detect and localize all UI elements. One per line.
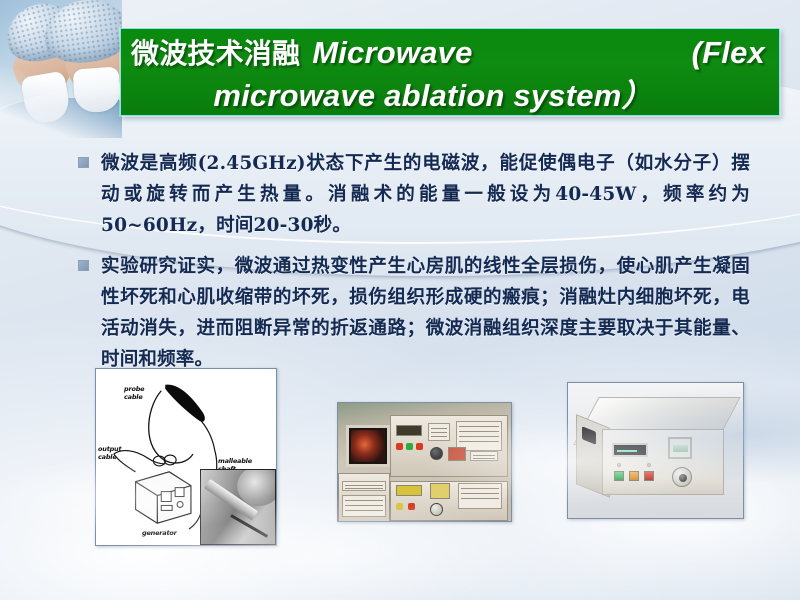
slide-canvas: 微波技术消融 Microwave (Flex microwave ablatio… bbox=[0, 0, 800, 600]
inset-endoscopic-photo bbox=[200, 469, 276, 545]
bullet-text: 微波是高频(2.45GHz)状态下产生的电磁波，能促使偶电子（如水分子）摆动或旋… bbox=[101, 148, 750, 241]
body-content: 微波是高频(2.45GHz)状态下产生的电磁波，能促使偶电子（如水分子）摆动或旋… bbox=[78, 148, 750, 385]
bullet-text: 实验研究证实，微波通过热变性产生心房肌的线性全层损伤，使心肌产生凝固性坏死和心肌… bbox=[101, 251, 750, 375]
surgeon-photo bbox=[0, 0, 122, 138]
title-line-2: microwave ablation system） bbox=[131, 76, 765, 116]
label-probe-cable: probecable bbox=[124, 385, 144, 401]
bullet-square-icon bbox=[78, 157, 89, 168]
title-english: Microwave bbox=[312, 31, 472, 75]
title-line-1: 微波技术消融 Microwave (Flex bbox=[131, 31, 765, 76]
bullet-square-icon bbox=[78, 260, 89, 271]
title-paren-open: (Flex bbox=[692, 31, 765, 75]
figure-generator-photo bbox=[567, 382, 744, 519]
title-banner: 微波技术消融 Microwave (Flex microwave ablatio… bbox=[120, 28, 780, 116]
bullet-item: 微波是高频(2.45GHz)状态下产生的电磁波，能促使偶电子（如水分子）摆动或旋… bbox=[78, 148, 750, 241]
label-generator: generator bbox=[142, 529, 177, 537]
bullet-item: 实验研究证实，微波通过热变性产生心房肌的线性全层损伤，使心肌产生凝固性坏死和心肌… bbox=[78, 251, 750, 375]
figure-probe-diagram: probecable malleableshaft outputcable an… bbox=[95, 368, 277, 546]
figure-row: probecable malleableshaft outputcable an… bbox=[0, 360, 800, 570]
figure-equipment-photo bbox=[337, 402, 512, 522]
title-chinese: 微波技术消融 bbox=[131, 32, 300, 76]
label-output-cable: outputcable bbox=[98, 445, 121, 461]
